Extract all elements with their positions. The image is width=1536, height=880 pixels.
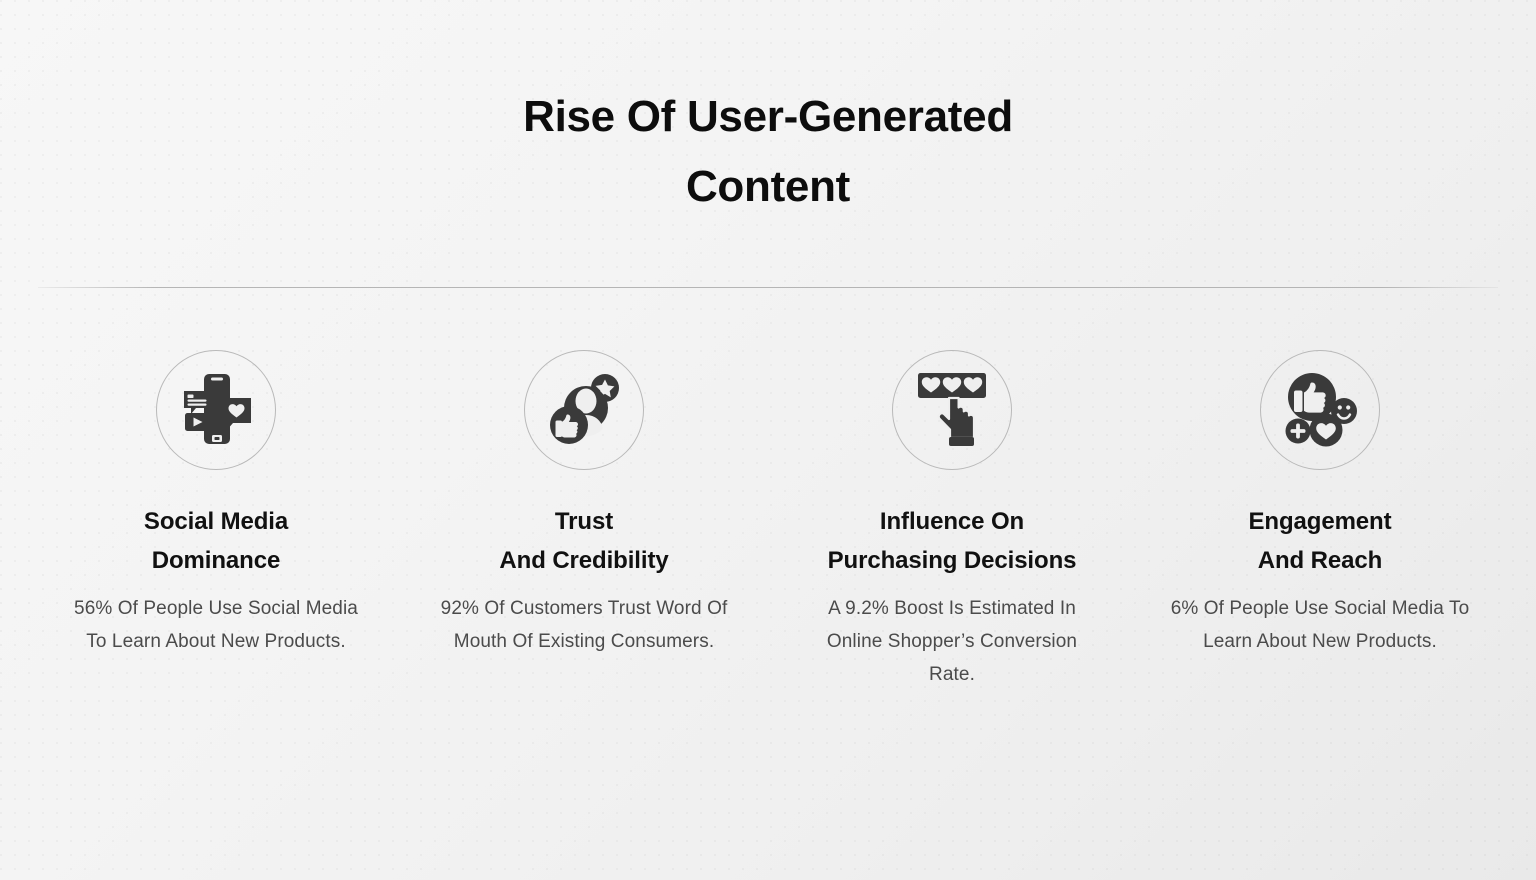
slide-canvas: Rise Of User-Generated Content <box>0 0 1536 880</box>
title-block: Rise Of User-Generated Content <box>0 82 1536 222</box>
card-social-media-dominance: Social Media Dominance 56% Of People Use… <box>32 350 400 658</box>
user-star-thumbsup-icon <box>524 350 644 470</box>
card-engagement-and-reach: Engagement And Reach 6% Of People Use So… <box>1136 350 1504 658</box>
card-title: Trust And Credibility <box>499 502 668 580</box>
cards-row: Social Media Dominance 56% Of People Use… <box>0 350 1536 691</box>
card-description: 6% Of People Use Social Media To Learn A… <box>1170 592 1470 658</box>
card-title: Influence On Purchasing Decisions <box>828 502 1077 580</box>
horizontal-divider <box>38 287 1498 288</box>
smartphone-social-icon <box>156 350 276 470</box>
card-title: Engagement And Reach <box>1248 502 1391 580</box>
card-trust-and-credibility: Trust And Credibility 92% Of Customers T… <box>400 350 768 658</box>
thumbsup-reactions-icon <box>1260 350 1380 470</box>
page-title: Rise Of User-Generated Content <box>458 82 1078 222</box>
card-description: A 9.2% Boost Is Estimated In Online Shop… <box>802 592 1102 691</box>
card-description: 92% Of Customers Trust Word Of Mouth Of … <box>434 592 734 658</box>
hand-tap-hearts-icon <box>892 350 1012 470</box>
card-description: 56% Of People Use Social Media To Learn … <box>66 592 366 658</box>
card-title: Social Media Dominance <box>144 502 288 580</box>
card-influence-on-purchasing-decisions: Influence On Purchasing Decisions A 9.2%… <box>768 350 1136 691</box>
